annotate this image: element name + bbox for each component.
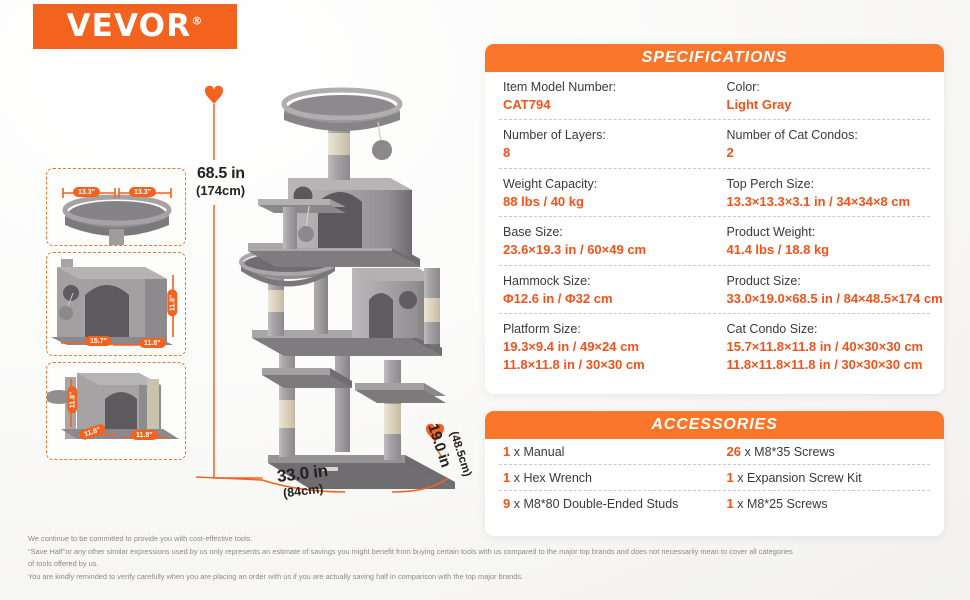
accessory-item-m835-screws: 26 x M8*35 Screws bbox=[715, 444, 931, 459]
height-dimension-inches: 68.5 in bbox=[197, 165, 245, 183]
accessory-qty: 1 bbox=[503, 470, 510, 485]
accessory-qty: 26 bbox=[727, 444, 741, 459]
spec-row: Base Size: 23.6×19.3 in / 60×49 cm Produ… bbox=[499, 217, 930, 265]
accessory-item-double-ended-studs: 9 x M8*80 Double-Ended Studs bbox=[499, 496, 715, 511]
accessory-item-expansion-screw-kit: 1 x Expansion Screw Kit bbox=[715, 470, 931, 485]
detail-view-upper-condo: 15.7" 11.8" 11.8" bbox=[46, 252, 186, 356]
spec-cell-base-size: Base Size: 23.6×19.3 in / 60×49 cm bbox=[499, 224, 715, 258]
spec-label: Product Weight: bbox=[727, 224, 931, 241]
footer-line-4: You are kindly reminded to verify carefu… bbox=[28, 571, 948, 584]
spec-label: Top Perch Size: bbox=[727, 176, 931, 193]
accessory-label: x Manual bbox=[514, 445, 565, 459]
spec-value: 33.0×19.0×68.5 in / 84×48.5×174 cm bbox=[727, 290, 943, 308]
spec-cell-color: Color: Light Gray bbox=[715, 79, 931, 113]
spec-cell-product-weight: Product Weight: 41.4 lbs / 18.8 kg bbox=[715, 224, 931, 258]
accessories-body: 1 x Manual 26 x M8*35 Screws 1 x Hex Wre… bbox=[485, 439, 944, 516]
spec-cell-product-size: Product Size: 33.0×19.0×68.5 in / 84×48.… bbox=[715, 273, 943, 307]
spec-value: 41.4 lbs / 18.8 kg bbox=[727, 241, 931, 259]
upper-condo-depth: 11.8" bbox=[139, 338, 166, 348]
spec-row: Hammock Size: Φ12.6 in / Φ32 cm Product … bbox=[499, 266, 930, 314]
accessory-qty: 9 bbox=[503, 496, 510, 511]
footer-line-1: We continue to be committed to provide y… bbox=[28, 533, 948, 546]
lower-condo-height: 11.8" bbox=[67, 387, 77, 414]
accessories-title: ACCESSORIES bbox=[651, 416, 777, 434]
spec-row: Number of Layers: 8 Number of Cat Condos… bbox=[499, 120, 930, 168]
accessory-qty: 1 bbox=[503, 444, 510, 459]
accessory-label: x Hex Wrench bbox=[514, 471, 592, 485]
spec-value-secondary: 11.8×11.8 in / 30×30 cm bbox=[503, 356, 715, 374]
accessory-item-hex-wrench: 1 x Hex Wrench bbox=[499, 470, 715, 485]
spec-cell-top-perch-size: Top Perch Size: 13.3×13.3×3.1 in / 34×34… bbox=[715, 176, 931, 210]
accessory-item-m825-screws: 1 x M8*25 Screws bbox=[715, 496, 931, 511]
detail-view-lower-condo: 11.8" 11.8" 11.8" bbox=[46, 362, 186, 460]
perch-dim-a: 13.3" bbox=[73, 187, 100, 197]
spec-label: Platform Size: bbox=[503, 321, 715, 338]
spec-cell-layers: Number of Layers: 8 bbox=[499, 127, 715, 161]
specifications-body: Item Model Number: CAT794 Color: Light G… bbox=[485, 72, 944, 379]
accessory-label: x Expansion Screw Kit bbox=[737, 471, 861, 485]
accessory-label: x M8*80 Double-Ended Studs bbox=[514, 497, 679, 511]
spec-label: Cat Condo Size: bbox=[727, 321, 931, 338]
spec-value: 23.6×19.3 in / 60×49 cm bbox=[503, 241, 715, 259]
spec-value-secondary: 11.8×11.8×11.8 in / 30×30×30 cm bbox=[727, 356, 931, 374]
accessory-item-manual: 1 x Manual bbox=[499, 444, 715, 459]
spec-value: 19.3×9.4 in / 49×24 cm bbox=[503, 338, 715, 356]
spec-cell-weight-capacity: Weight Capacity: 88 lbs / 40 kg bbox=[499, 176, 715, 210]
spec-value: 13.3×13.3×3.1 in / 34×34×8 cm bbox=[727, 193, 931, 211]
spec-cell-condos: Number of Cat Condos: 2 bbox=[715, 127, 931, 161]
lower-condo-width: 11.8" bbox=[131, 430, 158, 440]
height-dimension-cm: (174cm) bbox=[196, 183, 245, 198]
spec-row: Item Model Number: CAT794 Color: Light G… bbox=[499, 72, 930, 120]
detail-view-top-perch: 13.3" 13.3" bbox=[46, 168, 186, 246]
specifications-header: SPECIFICATIONS bbox=[485, 44, 944, 72]
footer-line-2: "Save Half"or any other similar expressi… bbox=[28, 546, 948, 559]
spec-label: Number of Cat Condos: bbox=[727, 127, 931, 144]
accessories-header: ACCESSORIES bbox=[485, 411, 944, 439]
footer-disclaimer: We continue to be committed to provide y… bbox=[28, 533, 948, 584]
accessory-label: x M8*25 Screws bbox=[737, 497, 827, 511]
spec-value: 2 bbox=[727, 144, 931, 162]
accessory-qty: 1 bbox=[727, 496, 734, 511]
spec-label: Hammock Size: bbox=[503, 273, 715, 290]
specifications-panel: SPECIFICATIONS Item Model Number: CAT794… bbox=[485, 44, 944, 394]
accessories-panel: ACCESSORIES 1 x Manual 26 x M8*35 Screws… bbox=[485, 411, 944, 536]
spec-label: Weight Capacity: bbox=[503, 176, 715, 193]
accessory-row: 9 x M8*80 Double-Ended Studs 1 x M8*25 S… bbox=[499, 491, 930, 516]
spec-row: Platform Size: 19.3×9.4 in / 49×24 cm 11… bbox=[499, 314, 930, 379]
accessory-label: x M8*35 Screws bbox=[744, 445, 834, 459]
spec-row: Weight Capacity: 88 lbs / 40 kg Top Perc… bbox=[499, 169, 930, 217]
spec-value: CAT794 bbox=[503, 96, 715, 114]
spec-cell-cat-condo-size: Cat Condo Size: 15.7×11.8×11.8 in / 40×3… bbox=[715, 321, 931, 373]
upper-condo-width: 15.7" bbox=[85, 336, 112, 346]
specifications-title: SPECIFICATIONS bbox=[642, 49, 788, 67]
spec-value: 88 lbs / 40 kg bbox=[503, 193, 715, 211]
spec-label: Base Size: bbox=[503, 224, 715, 241]
accessory-row: 1 x Hex Wrench 1 x Expansion Screw Kit bbox=[499, 465, 930, 491]
spec-label: Number of Layers: bbox=[503, 127, 715, 144]
perch-dim-b: 13.3" bbox=[129, 187, 156, 197]
upper-condo-height: 11.8" bbox=[167, 290, 177, 317]
spec-cell-platform-size: Platform Size: 19.3×9.4 in / 49×24 cm 11… bbox=[499, 321, 715, 373]
spec-value: Light Gray bbox=[727, 96, 931, 114]
product-image-stage: 68.5 in (174cm) 33.0 in (84cm) 19.0 in (… bbox=[0, 0, 485, 533]
spec-label: Product Size: bbox=[727, 273, 943, 290]
accessory-row: 1 x Manual 26 x M8*35 Screws bbox=[499, 439, 930, 465]
spec-value: Φ12.6 in / Φ32 cm bbox=[503, 290, 715, 308]
spec-label: Item Model Number: bbox=[503, 79, 715, 96]
spec-value: 15.7×11.8×11.8 in / 40×30×30 cm bbox=[727, 338, 931, 356]
spec-cell-model: Item Model Number: CAT794 bbox=[499, 79, 715, 113]
footer-line-3: of tools offered by us. bbox=[28, 558, 948, 571]
accessory-qty: 1 bbox=[727, 470, 734, 485]
spec-value: 8 bbox=[503, 144, 715, 162]
spec-label: Color: bbox=[727, 79, 931, 96]
spec-cell-hammock-size: Hammock Size: Φ12.6 in / Φ32 cm bbox=[499, 273, 715, 307]
